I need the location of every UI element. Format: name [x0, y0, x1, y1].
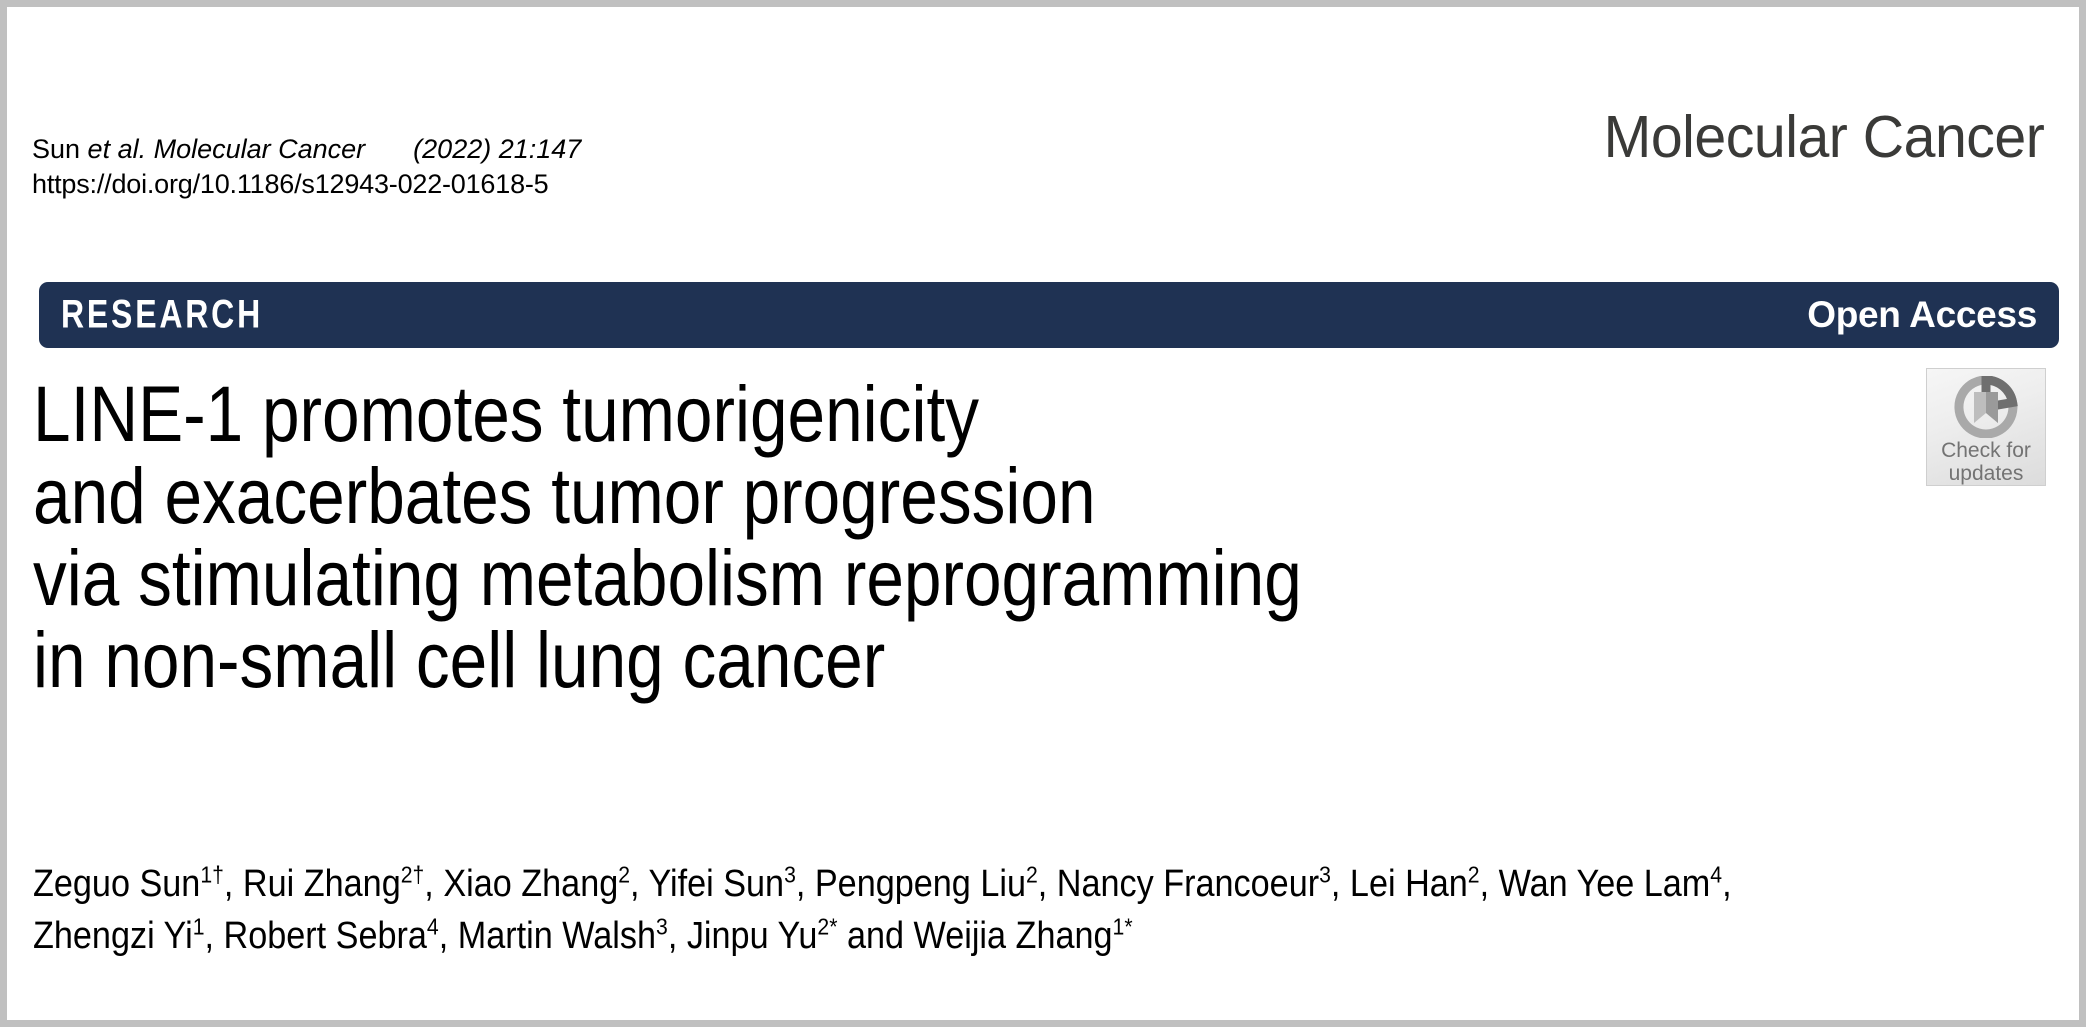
author-name: Pengpeng Liu — [815, 863, 1026, 905]
citation-journal: et al. Molecular Cancer — [88, 134, 366, 164]
author-separator: , — [1331, 863, 1350, 905]
author-affiliation-marker: 1* — [1113, 913, 1133, 939]
author-line-2: Zhengzi Yi1, Robert Sebra4, Martin Walsh… — [33, 910, 1842, 962]
title-line-3: via stimulating metabolism reprogramming — [33, 537, 1640, 619]
citation-header: Sun et al. Molecular Cancer(2022) 21:147… — [32, 132, 581, 202]
citation-author: Sun — [32, 134, 88, 164]
author-affiliation-marker: 3 — [656, 913, 668, 939]
author-name: Lei Han — [1350, 863, 1468, 905]
author-separator: , — [1038, 863, 1057, 905]
author-name: Zeguo Sun — [33, 863, 200, 905]
author-separator: , — [224, 863, 243, 905]
author-separator: and — [837, 915, 913, 957]
citation-line: Sun et al. Molecular Cancer(2022) 21:147 — [32, 132, 581, 167]
journal-title: Molecular Cancer — [1603, 103, 2044, 171]
article-title: LINE-1 promotes tumorigenicity and exace… — [33, 373, 1913, 701]
author-affiliation-marker: 2† — [401, 861, 425, 887]
author-name: Nancy Francoeur — [1057, 863, 1319, 905]
author-line-1: Zeguo Sun1†, Rui Zhang2†, Xiao Zhang2, Y… — [33, 858, 1842, 910]
author-separator: , — [205, 915, 224, 957]
author-separator: , — [668, 915, 687, 957]
author-name: Robert Sebra — [224, 915, 427, 957]
author-affiliation-marker: 2* — [817, 913, 837, 939]
check-for-updates-line1: Check for — [1927, 439, 2045, 462]
author-affiliation-marker: 1† — [200, 861, 224, 887]
author-name: Martin Walsh — [458, 915, 656, 957]
author-affiliation-marker: 3 — [784, 861, 796, 887]
author-separator: , — [796, 863, 815, 905]
author-name: Zhengzi Yi — [33, 915, 193, 957]
author-affiliation-marker: 4 — [427, 913, 439, 939]
author-name: Weijia Zhang — [914, 915, 1113, 957]
author-affiliation-marker: 3 — [1319, 861, 1331, 887]
author-separator: , — [439, 915, 458, 957]
author-separator: , — [1722, 863, 1732, 905]
author-affiliation-marker: 2 — [1468, 861, 1480, 887]
author-name: Yifei Sun — [648, 863, 784, 905]
page-inner: Sun et al. Molecular Cancer(2022) 21:147… — [7, 7, 2079, 1020]
check-for-updates-badge[interactable]: Check for updates — [1926, 368, 2046, 486]
open-access-label: Open Access — [1807, 294, 2037, 336]
article-page: Sun et al. Molecular Cancer(2022) 21:147… — [0, 0, 2086, 1027]
author-list: Zeguo Sun1†, Rui Zhang2†, Xiao Zhang2, Y… — [33, 858, 2043, 962]
author-name: Xiao Zhang — [443, 863, 618, 905]
citation-volume: (2022) 21:147 — [413, 132, 581, 167]
author-name: Rui Zhang — [243, 863, 401, 905]
title-line-1: LINE-1 promotes tumorigenicity — [33, 373, 1640, 455]
author-affiliation-marker: 2 — [1026, 861, 1038, 887]
check-for-updates-line2: updates — [1927, 462, 2045, 485]
author-affiliation-marker: 2 — [618, 861, 630, 887]
author-separator: , — [424, 863, 443, 905]
author-affiliation-marker: 1 — [193, 913, 205, 939]
author-name: Wan Yee Lam — [1499, 863, 1711, 905]
author-affiliation-marker: 4 — [1710, 861, 1722, 887]
doi-link[interactable]: https://doi.org/10.1186/s12943-022-01618… — [32, 167, 581, 202]
title-line-2: and exacerbates tumor progression — [33, 455, 1640, 537]
title-line-4: in non-small cell lung cancer — [33, 619, 1640, 701]
article-type-banner: RESEARCH Open Access — [39, 282, 2059, 348]
author-separator: , — [630, 863, 648, 905]
author-name: Jinpu Yu — [687, 915, 818, 957]
article-type-label: RESEARCH — [61, 293, 263, 338]
crossmark-logo-icon — [1954, 376, 2018, 438]
author-separator: , — [1480, 863, 1499, 905]
